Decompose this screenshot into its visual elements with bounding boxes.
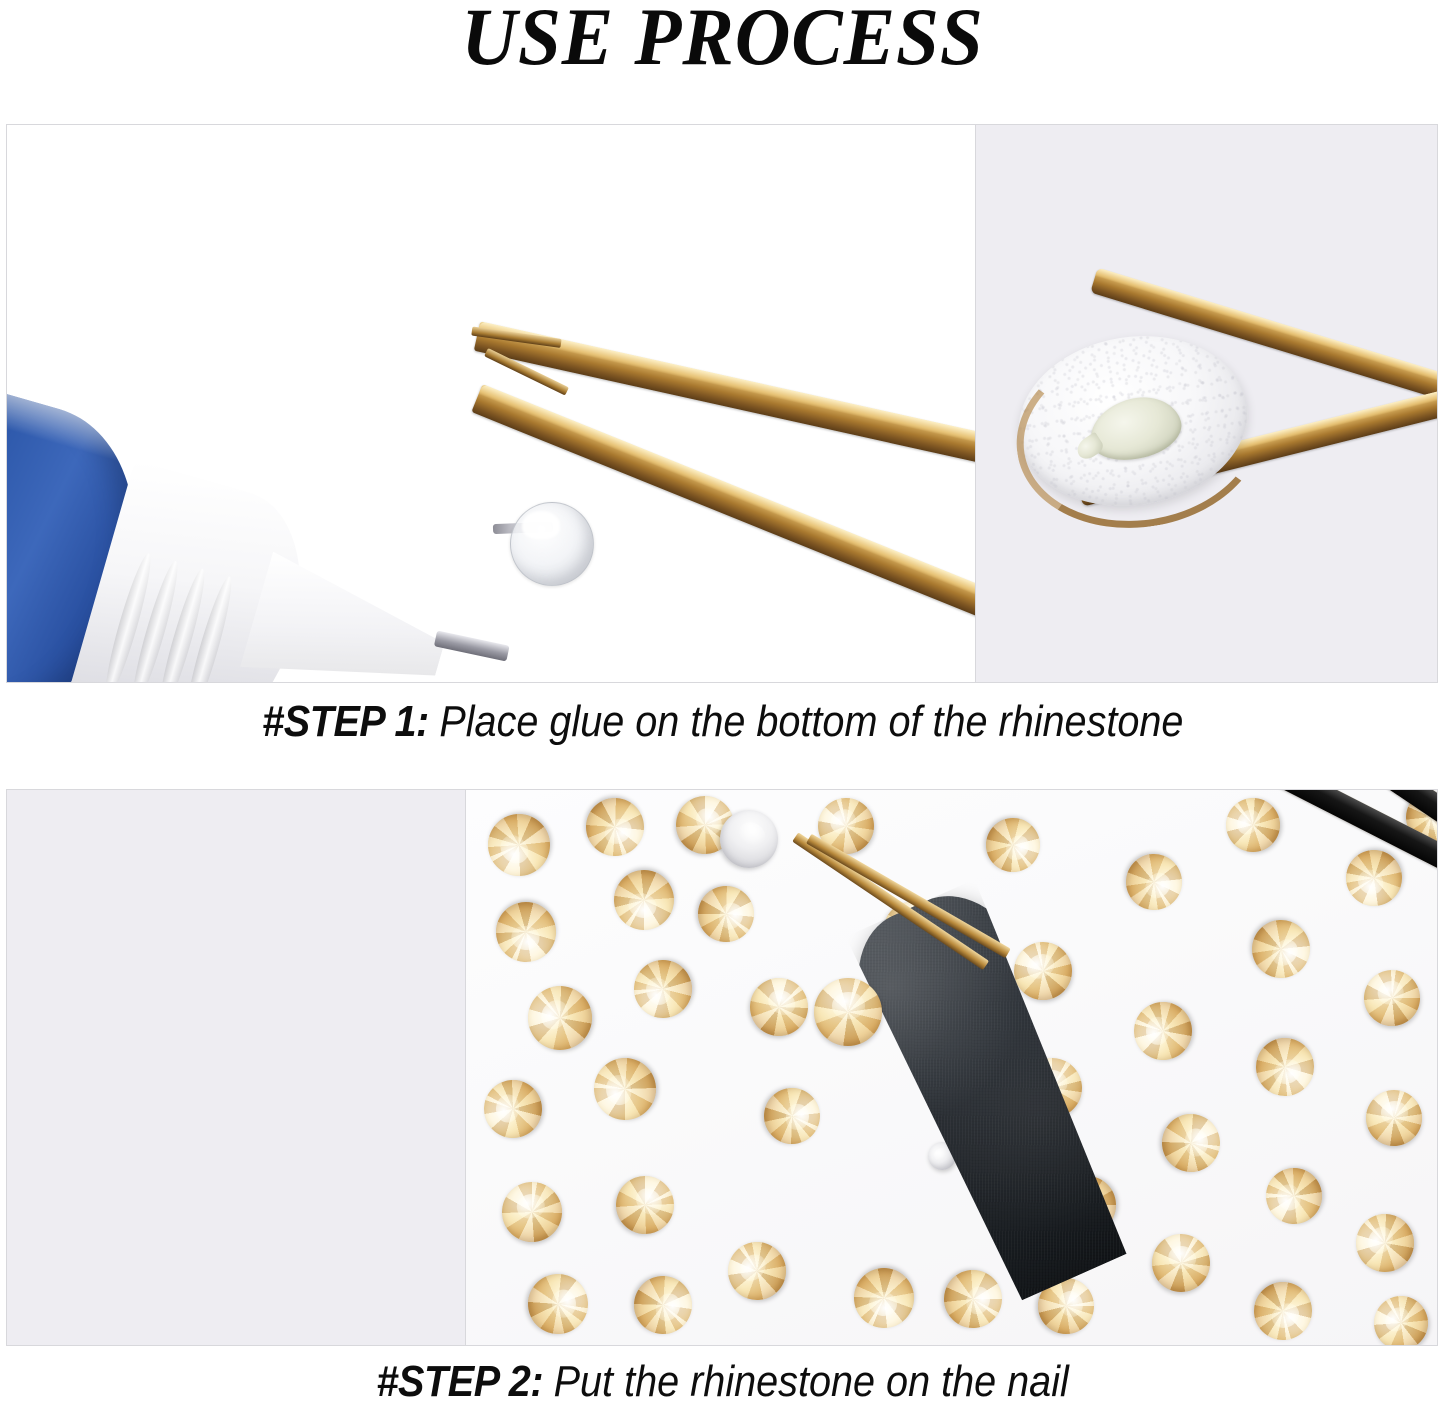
- champagne-rhinestone: [481, 1077, 545, 1141]
- glue-dab: [1083, 388, 1187, 470]
- step-2-tag: #STEP 2:: [376, 1357, 553, 1406]
- nail-stage: [7, 790, 465, 1345]
- champagne-rhinestone: [575, 790, 656, 868]
- champagne-rhinestone: [760, 1084, 825, 1149]
- step-1-photo-row: O R: [6, 124, 1438, 683]
- champagne-rhinestone: [690, 878, 763, 951]
- champagne-rhinestone: [1240, 908, 1322, 990]
- champagne-rhinestone: [607, 863, 681, 937]
- champagne-rhinestone: [497, 1176, 568, 1247]
- champagne-rhinestone: [937, 1263, 1009, 1335]
- champagne-rhinestone: [976, 808, 1051, 883]
- champagne-rhinestone: [1133, 1001, 1193, 1061]
- champagne-rhinestone: [493, 899, 559, 965]
- glue-bottle-tip: [240, 552, 456, 682]
- glue-applicator-photo: O R: [7, 125, 975, 682]
- champagne-rhinestone: [1115, 842, 1194, 921]
- champagne-rhinestone: [739, 967, 819, 1047]
- champagne-rhinestone: [717, 1230, 799, 1312]
- step-2-caption: #STEP 2: Put the rhinestone on the nail: [0, 1357, 1445, 1407]
- step-1-caption: #STEP 1: Place glue on the bottom of the…: [0, 697, 1445, 747]
- finished-nail-photo: [7, 790, 465, 1345]
- champagne-rhinestone: [589, 1053, 661, 1125]
- champagne-rhinestone: [1358, 964, 1426, 1032]
- champagne-rhinestone: [625, 951, 702, 1028]
- champagne-rhinestone: [625, 1267, 702, 1344]
- champagne-rhinestone: [1260, 1161, 1329, 1230]
- champagne-rhinestone: [1159, 1111, 1223, 1175]
- step-2-text: Put the rhinestone on the nail: [553, 1357, 1068, 1406]
- champagne-rhinestone: [604, 1164, 686, 1246]
- champagne-rhinestone: [850, 1263, 920, 1333]
- glue-needle-tip: [434, 630, 510, 661]
- step-1-tag: #STEP 1:: [262, 697, 439, 746]
- rhinestone-scatter-scene: [466, 790, 1437, 1345]
- clear-rhinestone: [510, 502, 594, 586]
- rhinestone-being-placed: [814, 978, 882, 1046]
- champagne-rhinestone: [1146, 1228, 1216, 1298]
- champagne-rhinestone: [526, 1272, 590, 1336]
- glued-rhinestone-photo: [975, 125, 1437, 682]
- champagne-rhinestone: [1247, 1028, 1325, 1106]
- step-1-text: Place glue on the bottom of the rhinesto…: [439, 697, 1183, 746]
- step-2-photo-row: [6, 789, 1438, 1346]
- glue-bottle: O R: [7, 369, 462, 682]
- step-2-caption-inner: #STEP 2: Put the rhinestone on the nail: [376, 1357, 1068, 1407]
- champagne-rhinestone: [1363, 1285, 1437, 1345]
- page-title: USE PROCESS: [43, 0, 1401, 80]
- step-1-caption-inner: #STEP 1: Place glue on the bottom of the…: [262, 697, 1183, 747]
- champagne-rhinestone: [1345, 1203, 1425, 1283]
- champagne-rhinestone: [516, 974, 604, 1062]
- champagne-rhinestone: [1244, 1272, 1322, 1345]
- rhinestone-flat-back: [1006, 320, 1259, 522]
- champagne-rhinestone: [1216, 790, 1291, 862]
- placing-rhinestone-photo: [465, 790, 1437, 1345]
- champagne-rhinestone: [476, 801, 564, 889]
- champagne-rhinestone: [1366, 1090, 1422, 1146]
